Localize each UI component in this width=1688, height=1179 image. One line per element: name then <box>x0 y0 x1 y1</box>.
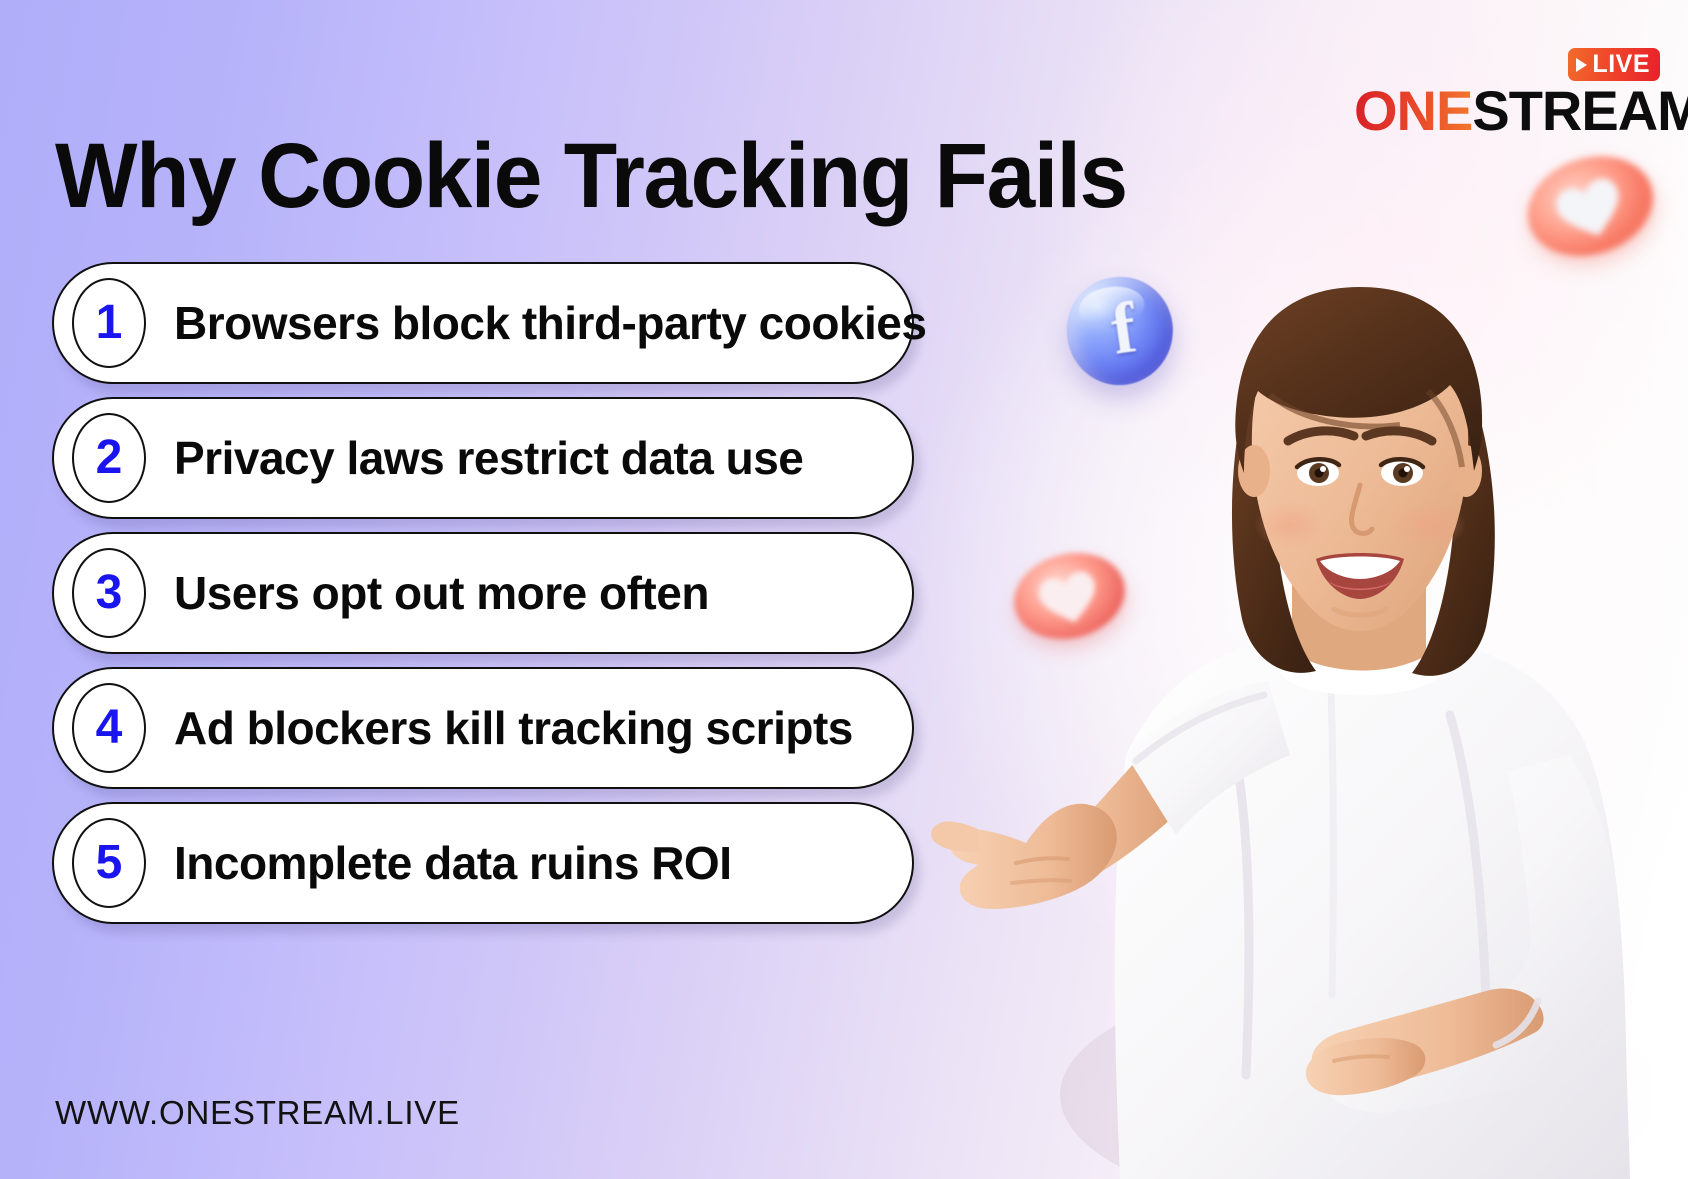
list-item-number-badge: 3 <box>72 548 146 638</box>
brand-logo[interactable]: LIVE ONESTREAM <box>1354 48 1664 138</box>
list-item-number-badge: 4 <box>72 683 146 773</box>
list-item-number: 4 <box>96 704 123 752</box>
list-item[interactable]: 4 Ad blockers kill tracking scripts <box>52 667 914 789</box>
list-item-number-badge: 2 <box>72 413 146 503</box>
list-item[interactable]: 5 Incomplete data ruins ROI <box>52 802 914 924</box>
list-item-label: Browsers block third-party cookies <box>174 296 926 350</box>
list-item-label: Users opt out more often <box>174 566 709 620</box>
list-item-label: Ad blockers kill tracking scripts <box>174 701 853 755</box>
logo-stream-text: STREAM <box>1472 79 1688 142</box>
reasons-list: 1 Browsers block third-party cookies 2 P… <box>52 262 914 937</box>
list-item-number-badge: 5 <box>72 818 146 908</box>
live-badge: LIVE <box>1568 48 1660 81</box>
logo-one-text: ONE <box>1354 79 1472 142</box>
list-item-number: 5 <box>96 839 123 887</box>
website-url: WWW.ONESTREAM.LIVE <box>55 1094 460 1132</box>
list-item[interactable]: 1 Browsers block third-party cookies <box>52 262 914 384</box>
list-item[interactable]: 2 Privacy laws restrict data use <box>52 397 914 519</box>
logo-wordmark: ONESTREAM <box>1354 83 1664 139</box>
list-item-number: 2 <box>96 434 123 482</box>
list-item-number: 3 <box>96 569 123 617</box>
list-item-label: Privacy laws restrict data use <box>174 431 803 485</box>
list-item[interactable]: 3 Users opt out more often <box>52 532 914 654</box>
pointing-woman-photo <box>930 195 1688 1179</box>
list-item-number-badge: 1 <box>72 278 146 368</box>
list-item-label: Incomplete data ruins ROI <box>174 836 732 890</box>
play-triangle-icon <box>1576 58 1587 72</box>
infographic-canvas: LIVE ONESTREAM Why Cookie Tracking Fails… <box>0 0 1688 1179</box>
live-badge-label: LIVE <box>1592 52 1650 77</box>
list-item-number: 1 <box>96 299 123 347</box>
